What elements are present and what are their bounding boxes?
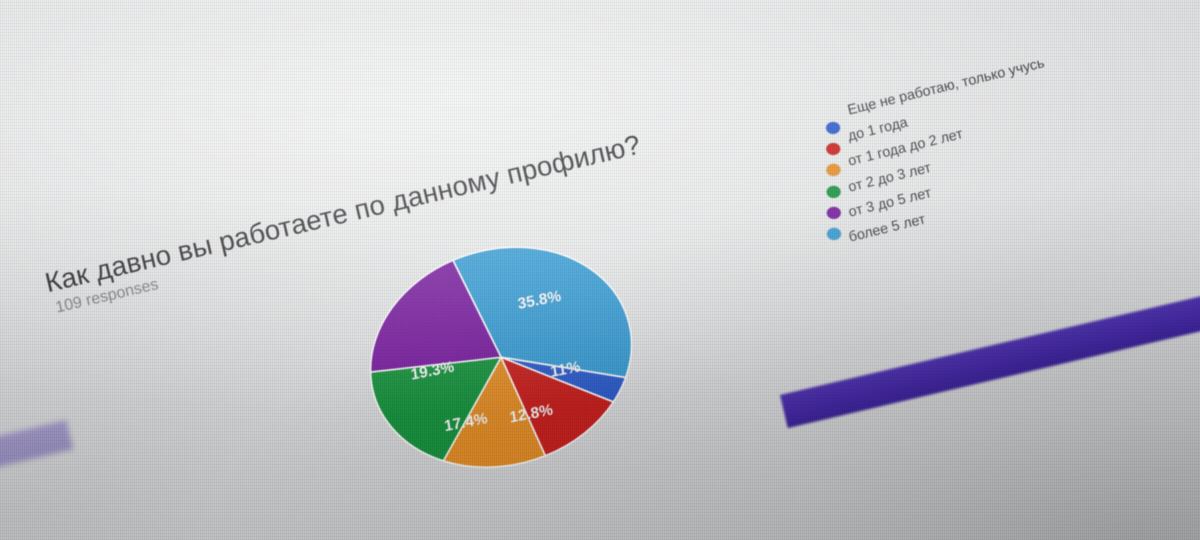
legend-dot-icon <box>826 143 840 155</box>
legend-item-label: Еще не работаю, только учусь <box>846 55 1046 118</box>
legend-dot-icon <box>827 207 841 219</box>
legend-dot-icon <box>827 185 841 197</box>
pie-slice-group <box>356 225 645 490</box>
pie-chart[interactable]: 35.8%11%12.8%17.4%19.3% <box>335 195 667 520</box>
legend-dot-icon <box>826 122 840 134</box>
form-results-page: Как давно вы работаете по данному профил… <box>0 0 1200 540</box>
pie-chart-svg: 35.8%11%12.8%17.4%19.3% <box>335 195 667 520</box>
monitor-photo: Как давно вы работаете по данному профил… <box>0 0 1200 540</box>
legend-dot-icon <box>827 228 841 240</box>
chart-legend: Еще не работаю, только учусь до 1 года о… <box>826 118 827 245</box>
legend-dot-icon <box>826 164 840 176</box>
